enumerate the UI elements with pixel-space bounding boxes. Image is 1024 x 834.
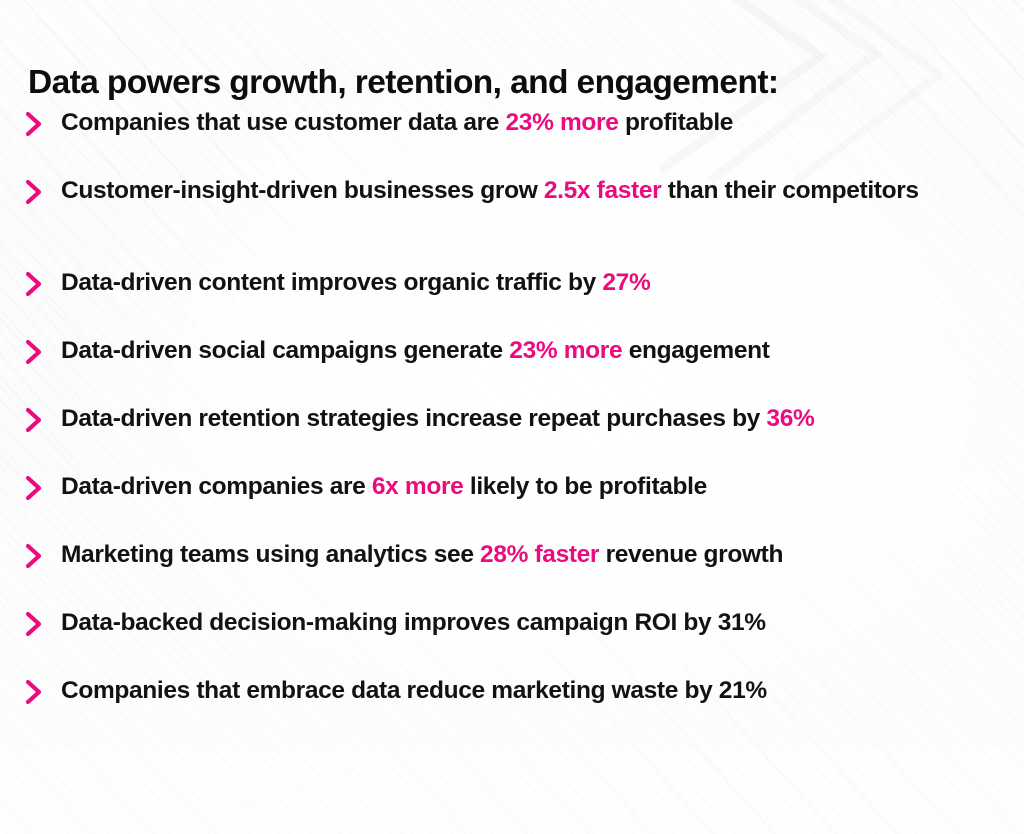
chevron-right-icon xyxy=(24,179,44,205)
stat-text-segment: revenue growth xyxy=(599,541,783,568)
stats-bullet-list: Companies that use customer data are 23%… xyxy=(24,107,1004,717)
stat-text-segment: Companies that embrace data reduce marke… xyxy=(61,677,767,704)
stat-text-segment: profitable xyxy=(618,109,733,136)
stat-bullet-text: Data-driven content improves organic tra… xyxy=(61,267,1004,299)
chevron-right-icon xyxy=(24,611,44,637)
stat-bullet-text: Customer-insight-driven businesses grow … xyxy=(61,175,941,207)
page-title: Data powers growth, retention, and engag… xyxy=(28,63,778,103)
stat-text-segment: likely to be profitable xyxy=(463,473,706,500)
stat-highlight: 27% xyxy=(602,269,650,296)
chevron-right-icon xyxy=(24,407,44,433)
stat-highlight: 23% more xyxy=(509,337,622,364)
chevron-right-icon xyxy=(24,543,44,569)
stat-text-segment: Customer-insight-driven businesses grow xyxy=(61,177,544,204)
stat-bullet-text: Companies that embrace data reduce marke… xyxy=(61,675,1004,707)
chevron-right-icon xyxy=(24,111,44,137)
stat-text-segment: Data-driven companies are xyxy=(61,473,372,500)
stat-bullet-marketing-waste-21: Companies that embrace data reduce marke… xyxy=(24,675,1004,717)
stat-text-segment: Companies that use customer data are xyxy=(61,109,506,136)
stat-bullet-campaign-roi-31: Data-backed decision-making improves cam… xyxy=(24,607,1004,649)
stat-highlight: 36% xyxy=(766,405,814,432)
stat-bullet-revenue-growth-28: Marketing teams using analytics see 28% … xyxy=(24,539,1004,581)
stat-bullet-organic-traffic-27: Data-driven content improves organic tra… xyxy=(24,267,1004,309)
stat-bullet-text: Data-backed decision-making improves cam… xyxy=(61,607,1004,639)
stat-text-segment: than their competitors xyxy=(661,177,918,204)
chevron-right-icon xyxy=(24,339,44,365)
stat-text-segment: Marketing teams using analytics see xyxy=(61,541,480,568)
stat-bullet-text: Data-driven retention strategies increas… xyxy=(61,403,1004,435)
stat-bullet-profitable-6x: Data-driven companies are 6x more likely… xyxy=(24,471,1004,513)
stat-bullet-text: Data-driven social campaigns generate 23… xyxy=(61,335,1004,367)
stat-highlight: 6x more xyxy=(372,473,464,500)
stat-bullet-grow-2-5x: Customer-insight-driven businesses grow … xyxy=(24,175,1004,241)
stat-text-segment: Data-driven social campaigns generate xyxy=(61,337,509,364)
chevron-right-icon xyxy=(24,271,44,297)
stat-text-segment: Data-driven retention strategies increas… xyxy=(61,405,766,432)
stat-highlight: 2.5x faster xyxy=(544,177,661,204)
stat-bullet-text: Data-driven companies are 6x more likely… xyxy=(61,471,1004,503)
stat-bullet-text: Marketing teams using analytics see 28% … xyxy=(61,539,1004,571)
stat-text-segment: Data-backed decision-making improves cam… xyxy=(61,609,766,636)
stat-bullet-text: Companies that use customer data are 23%… xyxy=(61,107,1004,139)
stat-bullet-social-engagement-23: Data-driven social campaigns generate 23… xyxy=(24,335,1004,377)
stat-highlight: 23% more xyxy=(506,109,619,136)
stat-text-segment: engagement xyxy=(622,337,769,364)
chevron-right-icon xyxy=(24,475,44,501)
chevron-right-icon xyxy=(24,679,44,705)
stat-bullet-repeat-purchases-36: Data-driven retention strategies increas… xyxy=(24,403,1004,445)
stat-text-segment: Data-driven content improves organic tra… xyxy=(61,269,602,296)
stat-bullet-profitable-23: Companies that use customer data are 23%… xyxy=(24,107,1004,149)
stat-highlight: 28% faster xyxy=(480,541,599,568)
infographic-poster: Data powers growth, retention, and engag… xyxy=(0,0,1024,834)
